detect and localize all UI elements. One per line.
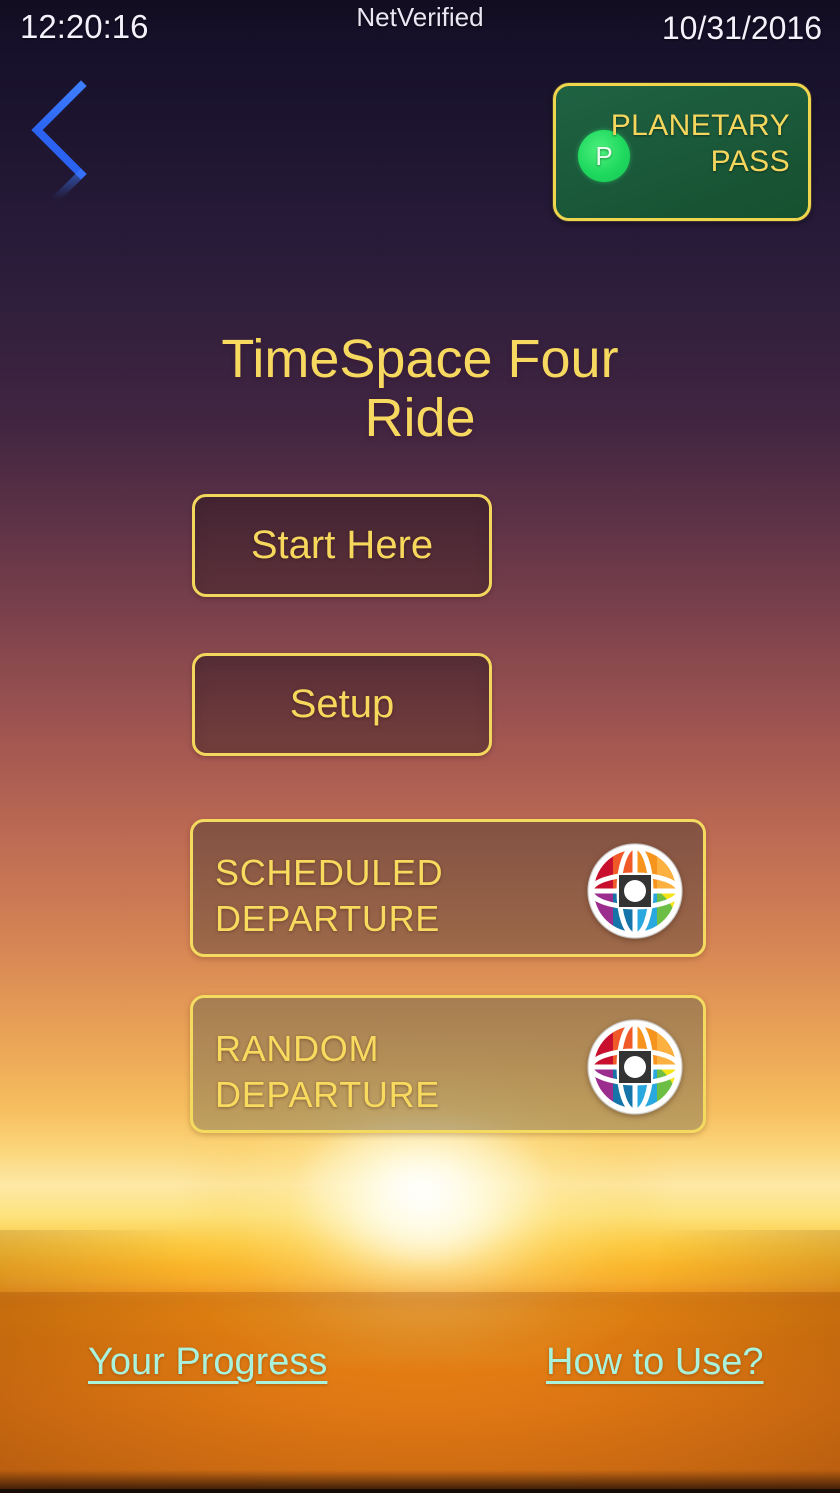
back-button[interactable] (25, 78, 117, 203)
page-title: TimeSpace Four Ride (0, 330, 840, 448)
setup-label: Setup (290, 682, 395, 727)
status-bar: 12:20:16 NetVerified 10/31/2016 (0, 0, 840, 58)
random-departure-line1: RANDOM (215, 1026, 440, 1072)
random-departure-label: RANDOM DEPARTURE (215, 1026, 440, 1118)
status-date: 10/31/2016 (662, 10, 822, 47)
bottom-edge-line (0, 1489, 840, 1493)
back-chevron-icon (25, 78, 117, 203)
app-screen: 12:20:16 NetVerified 10/31/2016 (0, 0, 840, 1493)
scheduled-departure-label: SCHEDULED DEPARTURE (215, 850, 443, 942)
random-departure-button[interactable]: RANDOM DEPARTURE (190, 995, 706, 1133)
how-to-use-link[interactable]: How to Use? (546, 1341, 764, 1384)
pass-label: PLANETARY PASS (600, 108, 790, 180)
scheduled-departure-line2: DEPARTURE (215, 896, 443, 942)
your-progress-link[interactable]: Your Progress (88, 1341, 327, 1384)
scheduled-departure-button[interactable]: SCHEDULED DEPARTURE (190, 819, 706, 957)
planetary-pass-badge[interactable]: P PLANETARY PASS (553, 83, 811, 221)
start-here-button[interactable]: Start Here (192, 494, 492, 597)
start-here-label: Start Here (251, 523, 433, 568)
horizon-haze (0, 1275, 840, 1305)
page-title-line1: TimeSpace Four (0, 330, 840, 389)
land-silhouette (0, 1292, 840, 1493)
random-departure-line2: DEPARTURE (215, 1072, 440, 1118)
pass-label-line1: PLANETARY (600, 108, 790, 144)
sun-core-glow (300, 1120, 550, 1270)
pass-label-line2: PASS (600, 144, 790, 180)
scheduled-departure-line1: SCHEDULED (215, 850, 443, 896)
globe-icon (585, 841, 685, 941)
page-title-line2: Ride (0, 389, 840, 448)
globe-icon (585, 1017, 685, 1117)
setup-button[interactable]: Setup (192, 653, 492, 756)
